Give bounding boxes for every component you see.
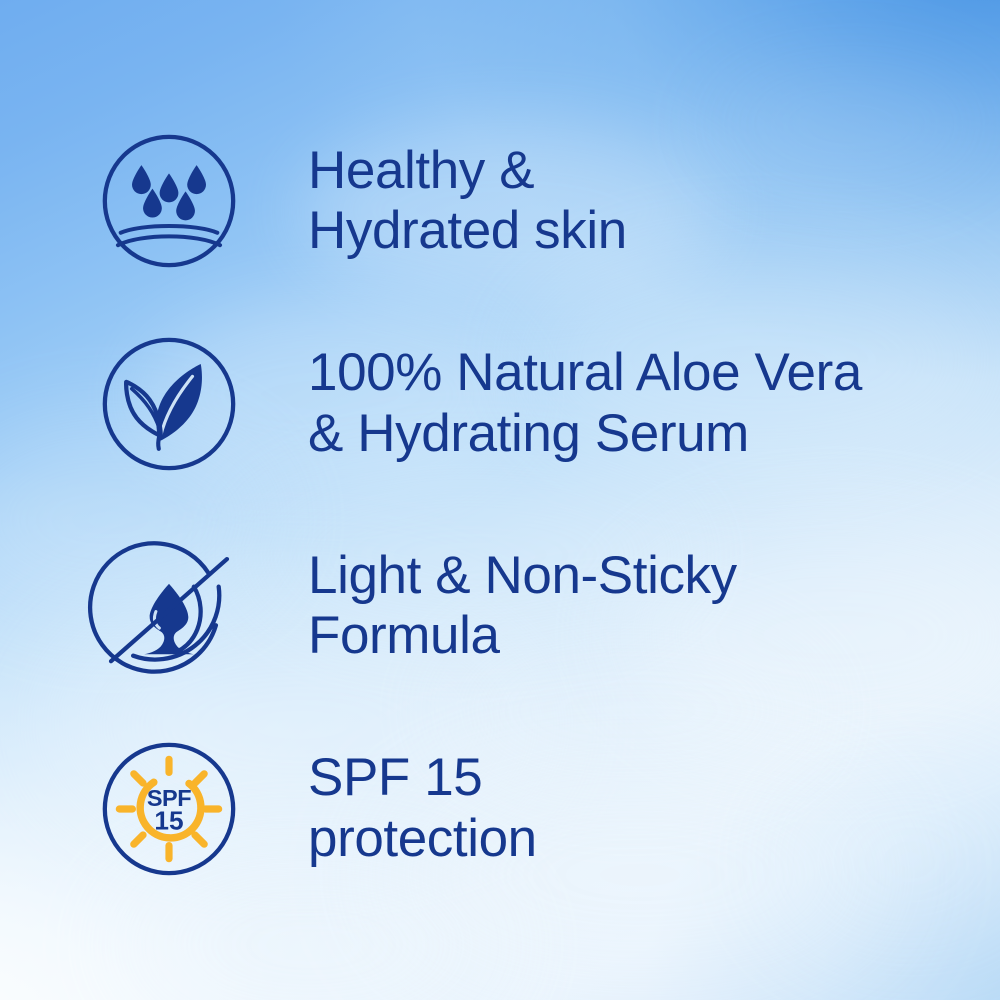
leaf-icon [100,335,238,473]
no-sticky-icon [100,537,238,675]
feature-label-non-sticky: Light & Non-Sticky Formula [308,546,737,667]
hydrated-skin-icon [100,132,238,270]
spf-badge-bottom: 15 [154,805,183,835]
feature-item-hydration: Healthy & Hydrated skin [100,100,960,303]
feature-item-natural-aloe: 100% Natural Aloe Vera & Hydrating Serum [100,303,960,506]
spf-sun-icon: SPF 15 [100,740,238,878]
feature-label-hydration: Healthy & Hydrated skin [308,141,627,262]
feature-item-spf-protection: SPF 15 SPF 15 protection [100,708,960,911]
feature-label-spf-protection: SPF 15 protection [308,748,537,869]
feature-item-non-sticky: Light & Non-Sticky Formula [100,505,960,708]
feature-label-natural-aloe: 100% Natural Aloe Vera & Hydrating Serum [308,343,862,464]
feature-list: Healthy & Hydrated skin 100% Natural Alo… [0,0,1000,1000]
